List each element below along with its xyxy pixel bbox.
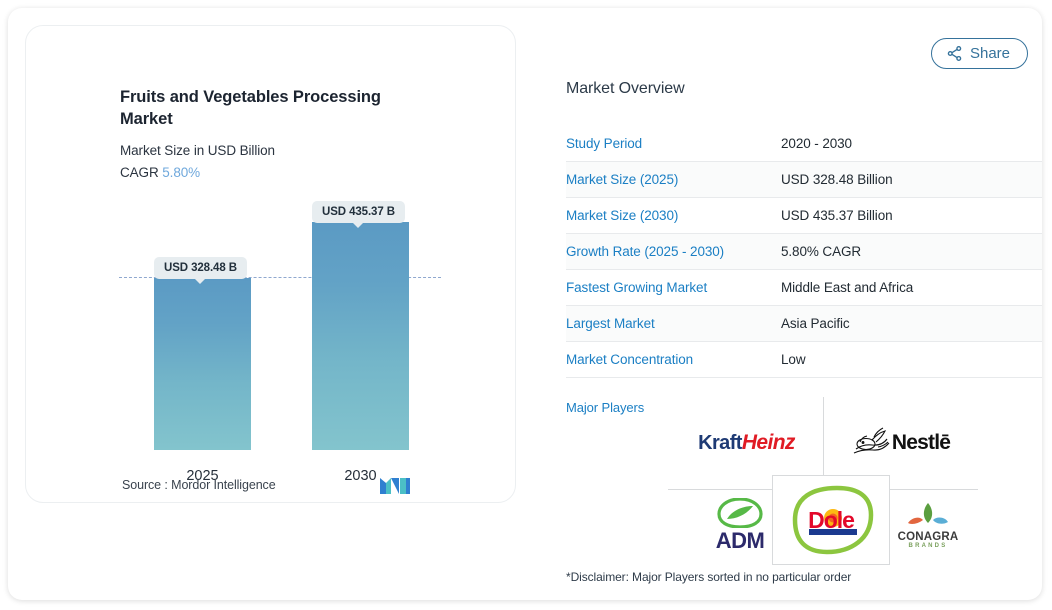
market-overview-title: Market Overview [566, 80, 685, 98]
row-value: Low [781, 342, 1042, 378]
market-overview-table: Study Period 2020 - 2030 Market Size (20… [566, 126, 1042, 378]
share-button[interactable]: Share [931, 38, 1028, 69]
kraft-wordmark: Kraft [698, 432, 742, 455]
players-disclaimer: *Disclaimer: Major Players sorted in no … [566, 570, 851, 584]
major-players-label: Major Players [566, 400, 644, 415]
dole-wordmark: Dole [808, 507, 854, 534]
table-row: Study Period 2020 - 2030 [566, 126, 1042, 162]
row-value: USD 328.48 Billion [781, 162, 1042, 198]
conagra-emblem-icon [900, 501, 956, 531]
major-players-logo-grid: KraftHeinz [668, 397, 978, 562]
market-overview-panel: Share Market Overview Study Period 2020 … [556, 25, 1042, 595]
table-row: Market Size (2030) USD 435.37 Billion [566, 198, 1042, 234]
conagra-logo: CONAGRA BRANDS [880, 493, 976, 557]
row-key: Market Concentration [566, 342, 781, 378]
source-name: Mordor Intelligence [171, 478, 275, 492]
table-row: Growth Rate (2025 - 2030) 5.80% CAGR [566, 234, 1042, 270]
bar-chart-plot: USD 328.48 B USD 435.37 B 2025 2030 [26, 26, 517, 504]
table-row: Market Size (2025) USD 328.48 Billion [566, 162, 1042, 198]
table-row: Fastest Growing Market Middle East and A… [566, 270, 1042, 306]
row-key: Market Size (2030) [566, 198, 781, 234]
page-root: Fruits and Vegetables Processing Market … [0, 0, 1052, 610]
row-value: 5.80% CAGR [781, 234, 1042, 270]
bar-value-label-2030: USD 435.37 B [312, 201, 405, 223]
bar-2025[interactable] [154, 278, 251, 450]
kraft-heinz-logo: KraftHeinz [674, 417, 819, 469]
row-key: Market Size (2025) [566, 162, 781, 198]
share-nodes-icon [946, 45, 963, 62]
row-key: Fastest Growing Market [566, 270, 781, 306]
dole-logo: Dole [772, 475, 890, 565]
heinz-wordmark: Heinz [742, 431, 795, 455]
bar-2030[interactable] [312, 222, 409, 450]
adm-leaf-icon [717, 498, 763, 528]
market-summary-card: Fruits and Vegetables Processing Market … [8, 8, 1042, 600]
conagra-sub-wordmark: BRANDS [909, 543, 948, 549]
conagra-wordmark: CONAGRA [898, 531, 959, 543]
share-button-label: Share [970, 45, 1010, 62]
nestle-logo: Nestlē [826, 417, 974, 469]
chart-card: Fruits and Vegetables Processing Market … [25, 25, 516, 503]
row-key: Study Period [566, 126, 781, 162]
chart-source: Source : Mordor Intelligence [122, 478, 422, 492]
row-value: USD 435.37 Billion [781, 198, 1042, 234]
nestle-wordmark: Nestlē [892, 431, 950, 455]
row-key: Growth Rate (2025 - 2030) [566, 234, 781, 270]
table-row: Largest Market Asia Pacific [566, 306, 1042, 342]
table-row: Market Concentration Low [566, 342, 1042, 378]
row-value: Asia Pacific [781, 306, 1042, 342]
row-key: Largest Market [566, 306, 781, 342]
bar-value-label-2025: USD 328.48 B [154, 257, 247, 279]
mordor-intelligence-logo [380, 476, 410, 496]
row-value: Middle East and Africa [781, 270, 1042, 306]
nestle-bird-nest-icon [850, 423, 892, 463]
row-value: 2020 - 2030 [781, 126, 1042, 162]
source-label: Source : [122, 478, 168, 492]
adm-wordmark: ADM [716, 528, 765, 554]
